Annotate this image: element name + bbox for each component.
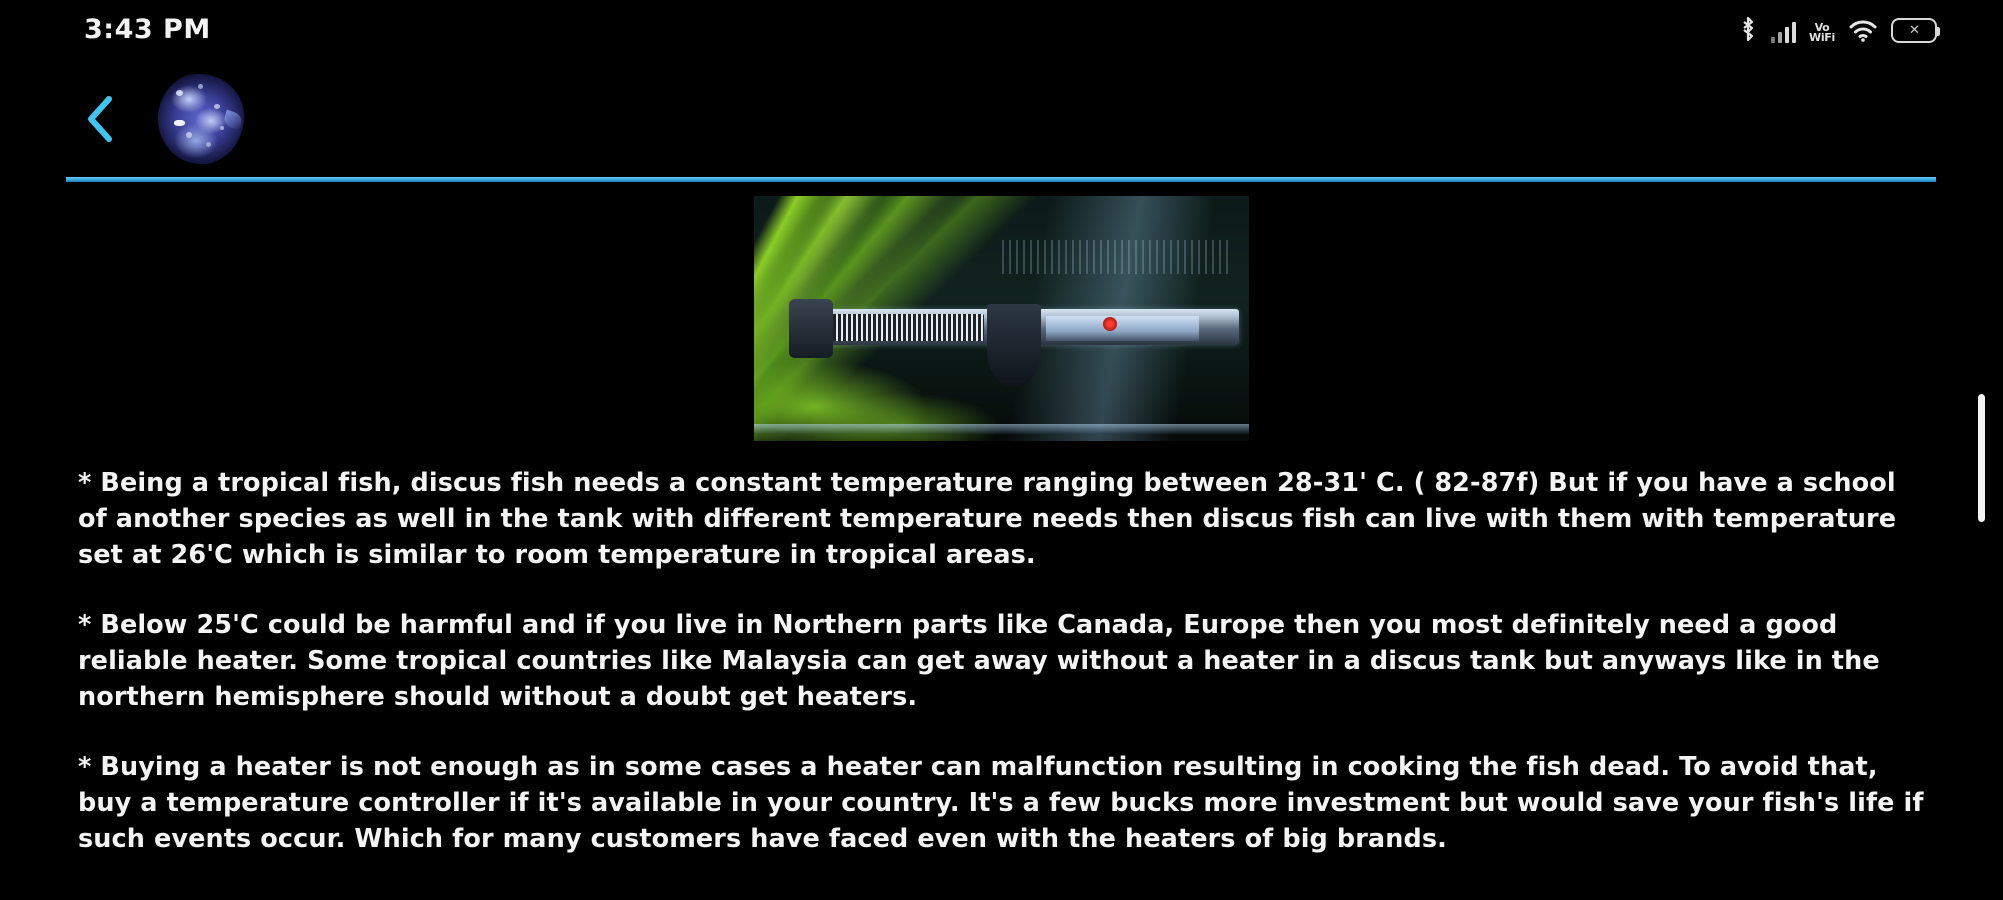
aquarium-heater-photo [754, 196, 1249, 441]
vertical-scrollbar-track[interactable] [1978, 182, 1985, 900]
wifi-icon [1848, 15, 1878, 43]
article-paragraph-1: * Being a tropical fish, discus fish nee… [78, 465, 1931, 573]
bluetooth-icon [1738, 15, 1758, 43]
article-paragraph-2: * Below 25'C could be harmful and if you… [78, 607, 1931, 715]
tank-background-strip [1002, 240, 1230, 274]
heater-label-band [1046, 316, 1199, 341]
vowifi-icon: Vo WiFi [1809, 15, 1835, 43]
hero-image-figure [754, 196, 1249, 441]
status-icons-group: Vo WiFi ✕ [1738, 15, 1938, 43]
article-paragraph-3: * Buying a heater is not enough as in so… [78, 749, 1931, 857]
status-clock: 3:43 PM [84, 14, 211, 45]
battery-x-label: ✕ [1909, 23, 1919, 38]
back-button[interactable] [70, 88, 132, 150]
discus-fish-logo[interactable] [158, 74, 244, 164]
vertical-scrollbar-thumb[interactable] [1978, 394, 1985, 522]
article-scroll-container[interactable]: * Being a tropical fish, discus fish nee… [0, 182, 2003, 900]
logo-fish-eye [174, 120, 185, 126]
vowifi-line2: WiFi [1809, 31, 1835, 44]
chevron-left-icon [81, 91, 121, 147]
logo-fish-fin [222, 110, 244, 131]
app-header [0, 58, 2003, 180]
heater-end-cap [789, 299, 834, 358]
tank-bottom-rim [754, 424, 1249, 434]
battery-icon: ✕ [1891, 15, 1937, 43]
article-body: * Being a tropical fish, discus fish nee… [0, 465, 2003, 857]
cellular-signal-icon [1771, 15, 1797, 43]
heater-suction-mount [987, 304, 1041, 387]
heater-coil [821, 314, 984, 341]
status-bar: 3:43 PM Vo WiFi [0, 0, 2003, 58]
